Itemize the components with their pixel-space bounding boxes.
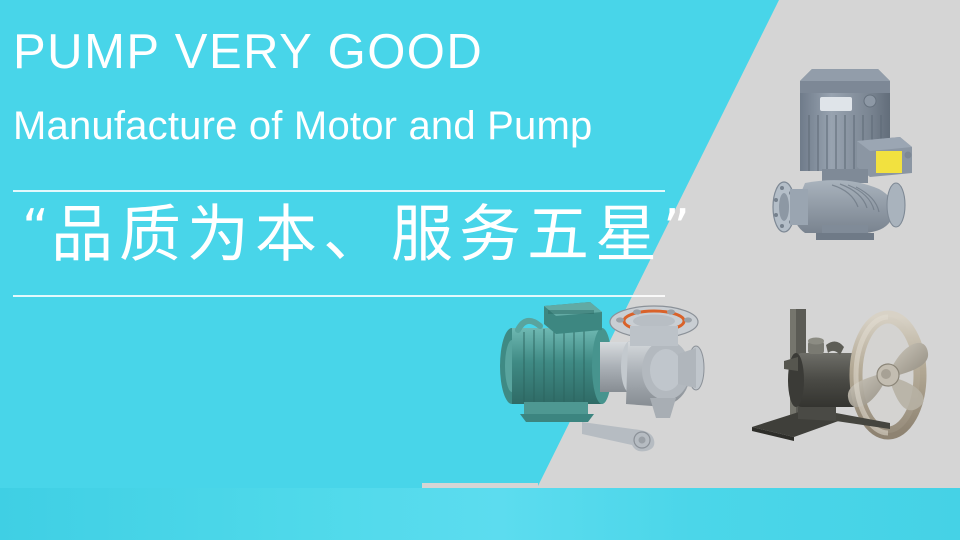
slogan-text: “品质为本、服务五星” — [22, 203, 692, 265]
product-image-submersible-mixer — [740, 295, 945, 450]
product-image-horizontal-centrifugal-pump — [490, 298, 735, 463]
gray-accent-chip — [422, 483, 538, 488]
promo-banner: PUMP VERY GOOD Manufacture of Motor and … — [0, 0, 960, 540]
slogan-open-quote: “ — [22, 199, 51, 259]
page-subtitle: Manufacture of Motor and Pump — [13, 106, 592, 146]
divider-bottom — [13, 295, 665, 297]
bottom-cyan-band — [0, 488, 960, 540]
divider-top — [13, 190, 665, 192]
page-title: PUMP VERY GOOD — [13, 28, 483, 77]
slogan-body: 品质为本、服务五星 — [51, 197, 663, 270]
product-image-vertical-inline-pump — [760, 55, 935, 245]
slogan-close-quote: ” — [663, 199, 692, 259]
